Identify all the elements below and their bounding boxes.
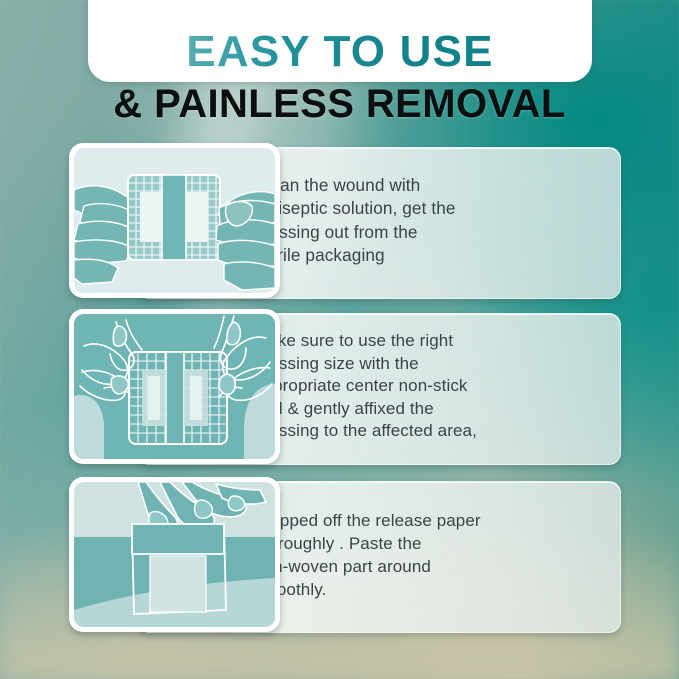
infographic-poster: EASY TO USE & PAINLESS REMOVAL Clean the…: [0, 0, 679, 679]
step-1-text: Clean the wound with antiseptic solution…: [254, 143, 544, 298]
step-row-1: Clean the wound with antiseptic solution…: [69, 143, 619, 298]
step-row-2: Make sure to use the right dressing size…: [69, 309, 619, 464]
step-2-thumbnail-card: [69, 309, 280, 464]
step-row-3: Stripped off the release paper thoroughl…: [69, 477, 619, 632]
step-2-illustration-choosing-dressing-size: [74, 314, 275, 459]
step-3-thumbnail-card: [69, 477, 280, 632]
step-1-thumbnail-card: [69, 143, 280, 298]
step-1-illustration-opening-sterile-package: [74, 148, 275, 293]
step-3-illustration-peeling-release-paper: [74, 482, 275, 627]
step-3-text: Stripped off the release paper thoroughl…: [254, 477, 544, 632]
step-2-text: Make sure to use the right dressing size…: [254, 309, 544, 464]
title-line-2: & PAINLESS REMOVAL: [0, 82, 679, 126]
title-line-1: EASY TO USE: [88, 29, 592, 75]
